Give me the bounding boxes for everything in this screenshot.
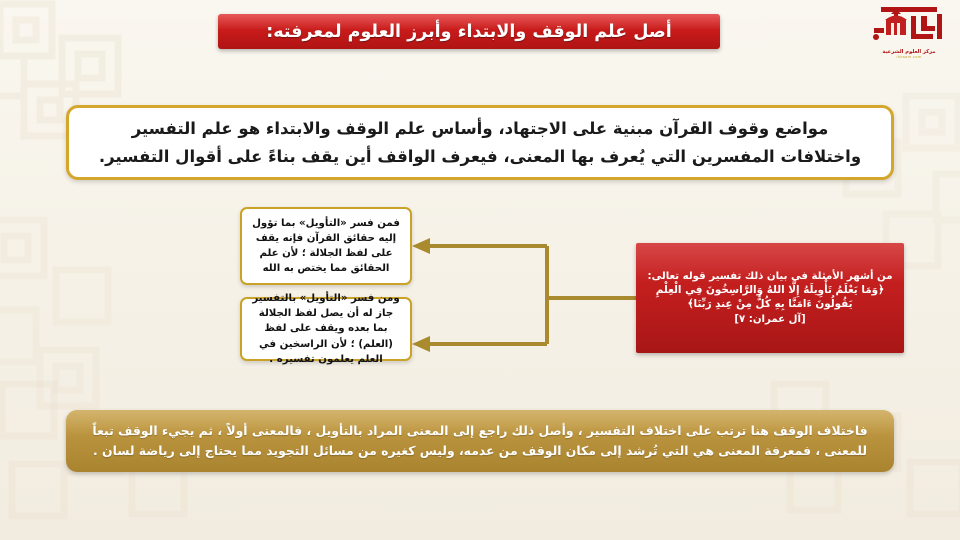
intro-statement-text: مواضع وقوف القرآن مبنية على الاجتهاد، وأ… <box>95 115 865 169</box>
branch-box-2-text: ومن فسر «التأويل» بالتفسير جاز له أن يصل… <box>251 291 401 366</box>
branch-box-1-text: فمن فسر «التأويل» بما تؤول إليه حقائق ال… <box>251 216 401 276</box>
example-ayah-text: ﴿وَمَا يَعْلَمُ تَأْوِيلَهُ إِلَّا اللهُ… <box>643 284 897 311</box>
slide-canvas: أصل علم الوقف والابتداء وأبرز العلوم لمع… <box>0 0 960 540</box>
branch-box-1: فمن فسر «التأويل» بما تؤول إليه حقائق ال… <box>240 207 412 285</box>
logo-subtitle-latin: ihkaam.com <box>896 55 921 59</box>
kufic-watermark-center-left <box>0 200 180 430</box>
brand-logo: مركز العلوم الشرعية ihkaam.com <box>866 6 952 64</box>
page-title: أصل علم الوقف والابتداء وأبرز العلوم لمع… <box>266 22 672 42</box>
quran-example-box: من أشهر الأمثلة في بيان ذلك تفسير قوله ت… <box>636 243 904 353</box>
intro-statement-box: مواضع وقوف القرآن مبنية على الاجتهاد، وأ… <box>66 105 894 180</box>
ihkam-logo-icon <box>867 6 951 48</box>
example-intro-text: من أشهر الأمثلة في بيان ذلك تفسير قوله ت… <box>648 270 893 283</box>
conclusion-bar: فاختلاف الوقف هنا ترتب على اختلاف التفسي… <box>66 410 894 472</box>
slide-title-banner: أصل علم الوقف والابتداء وأبرز العلوم لمع… <box>218 14 720 49</box>
branch-box-2: ومن فسر «التأويل» بالتفسير جاز له أن يصل… <box>240 297 412 361</box>
example-ayah-reference: [آل عمران: ٧] <box>734 313 805 326</box>
conclusion-text: فاختلاف الوقف هنا ترتب على اختلاف التفسي… <box>88 421 872 461</box>
